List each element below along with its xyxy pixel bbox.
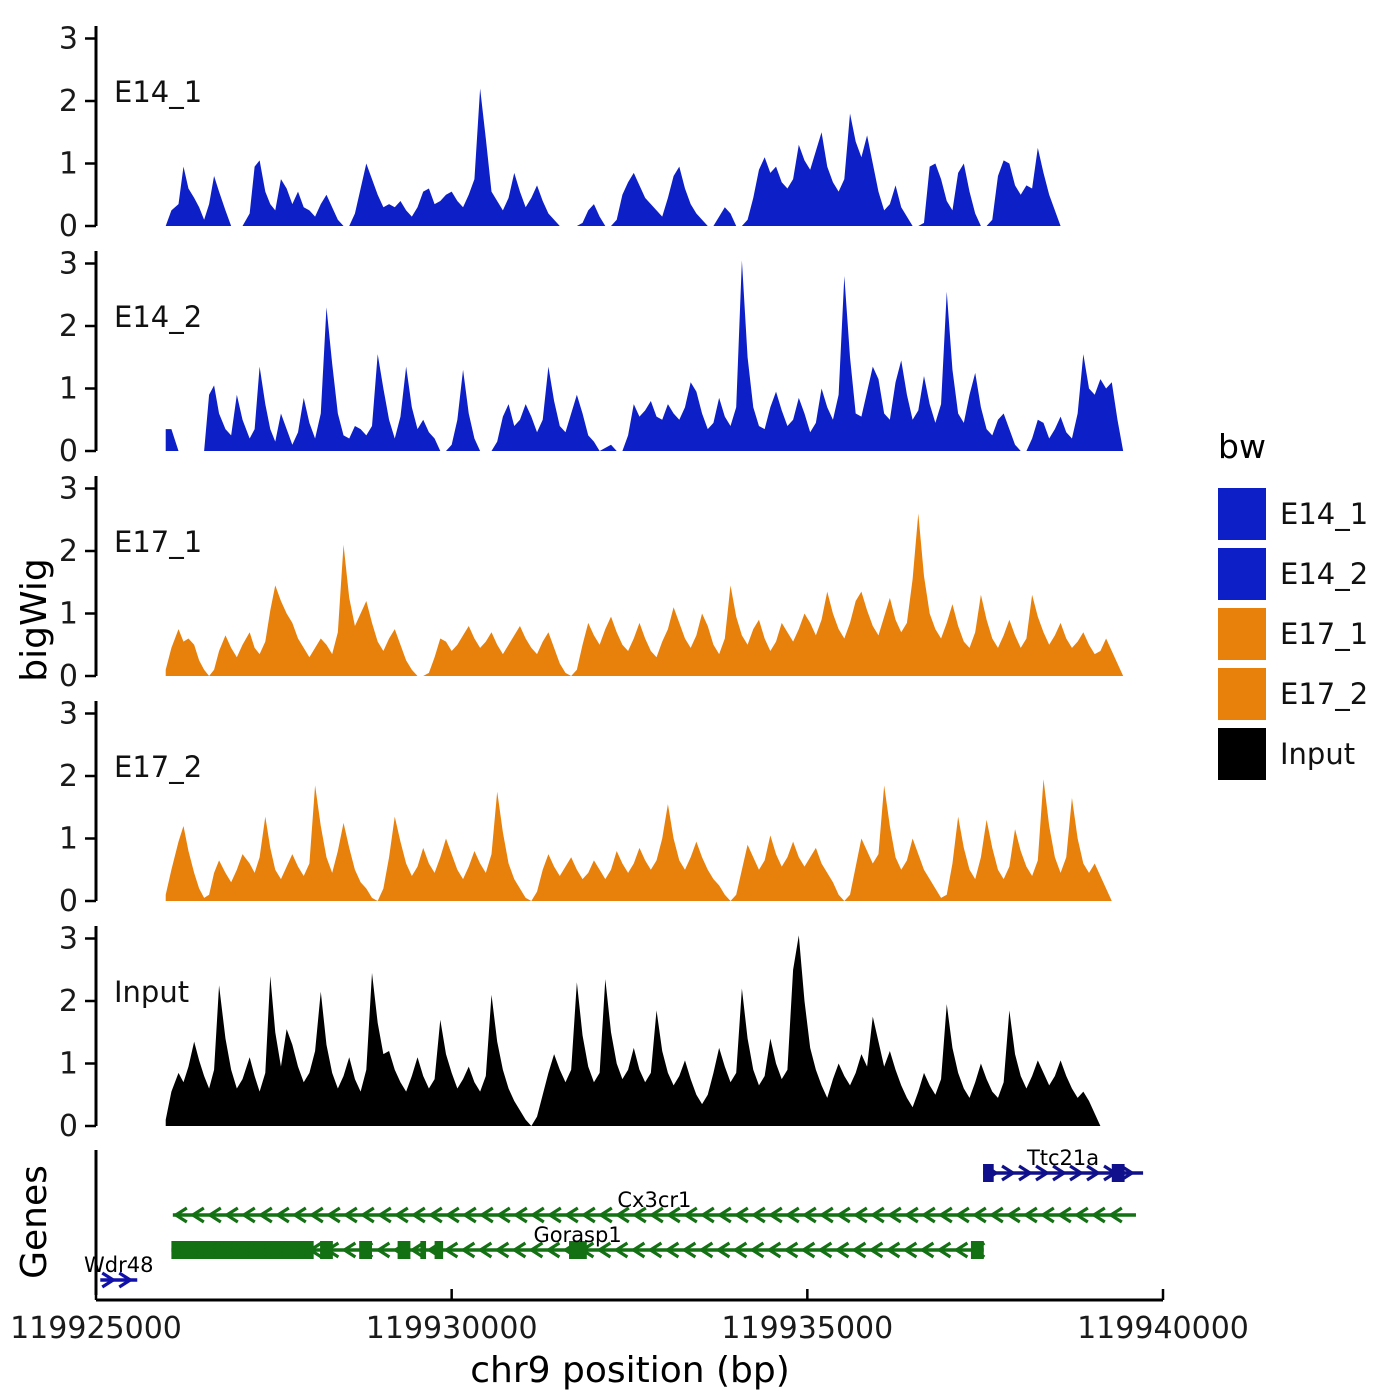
track-E17_1: 0123E17_1 <box>59 472 1123 695</box>
track-label-Input: Input <box>114 975 189 1009</box>
figure-root: 0123E14_10123E14_20123E17_10123E17_20123… <box>0 0 1400 1400</box>
legend-item-E14_1[interactable]: E14_1 <box>1218 488 1368 540</box>
track-E14_2: 0123E14_2 <box>59 247 1123 470</box>
y-tick-label: 3 <box>59 472 78 507</box>
genes-axis-title: Genes <box>14 1165 55 1279</box>
legend-label: E14_2 <box>1280 557 1368 591</box>
gene-Gorasp1[interactable]: Gorasp1 <box>171 1223 984 1259</box>
legend-swatch <box>1218 488 1266 540</box>
legend-item-E17_2[interactable]: E17_2 <box>1218 668 1368 720</box>
y-tick-label: 2 <box>59 534 78 569</box>
gene-label: Cx3cr1 <box>617 1188 691 1212</box>
y-tick-label: 0 <box>59 884 78 919</box>
legend-label: E17_2 <box>1280 677 1368 711</box>
track-label-E17_1: E17_1 <box>114 525 202 559</box>
legend-swatch <box>1218 548 1266 600</box>
y-tick-label: 0 <box>59 209 78 244</box>
gene-Ttc21a[interactable]: Ttc21a <box>983 1146 1143 1182</box>
gene-label: Gorasp1 <box>533 1223 621 1247</box>
y-tick-label: 2 <box>59 984 78 1019</box>
y-tick-label: 1 <box>59 822 78 857</box>
legend-item-E17_1[interactable]: E17_1 <box>1218 608 1368 660</box>
signal-area <box>166 260 1123 451</box>
y-tick-label: 3 <box>59 922 78 957</box>
y-tick-label: 3 <box>59 697 78 732</box>
gene-Wdr48[interactable]: Wdr48 <box>84 1253 153 1287</box>
track-label-E17_2: E17_2 <box>114 750 202 784</box>
x-axis-title: chr9 position (bp) <box>470 1350 790 1391</box>
gene-label: Wdr48 <box>84 1253 153 1277</box>
y-tick-label: 2 <box>59 309 78 344</box>
y-axis-title: bigWig <box>14 558 55 681</box>
legend-label: E17_1 <box>1280 617 1368 651</box>
track-label-E14_2: E14_2 <box>114 300 202 334</box>
x-tick-label: 119935000 <box>721 1311 893 1346</box>
y-tick-label: 3 <box>59 22 78 57</box>
y-tick-label: 2 <box>59 84 78 119</box>
signal-area <box>166 514 1123 677</box>
y-tick-label: 2 <box>59 759 78 794</box>
y-tick-label: 1 <box>59 372 78 407</box>
legend-swatch <box>1218 668 1266 720</box>
legend-item-E14_2[interactable]: E14_2 <box>1218 548 1368 600</box>
signal-area <box>166 935 1101 1126</box>
track-label-E14_1: E14_1 <box>114 75 202 109</box>
x-tick-label: 119925000 <box>10 1311 182 1346</box>
track-E17_2: 0123E17_2 <box>59 697 1112 920</box>
track-Input: 0123Input <box>59 922 1100 1145</box>
legend-label: Input <box>1280 737 1355 771</box>
y-tick-label: 1 <box>59 597 78 632</box>
legend-label: E14_1 <box>1280 497 1368 531</box>
legend-title: bw <box>1218 427 1266 466</box>
y-tick-label: 0 <box>59 1109 78 1144</box>
legend-item-Input[interactable]: Input <box>1218 728 1355 780</box>
y-tick-label: 3 <box>59 247 78 282</box>
y-tick-label: 0 <box>59 434 78 469</box>
y-tick-label: 0 <box>59 659 78 694</box>
legend-swatch <box>1218 608 1266 660</box>
signal-area <box>166 89 1129 227</box>
signal-area <box>166 779 1112 901</box>
y-tick-label: 1 <box>59 147 78 182</box>
gene-label: Ttc21a <box>1026 1146 1099 1170</box>
y-tick-label: 1 <box>59 1047 78 1082</box>
track-E14_1: 0123E14_1 <box>59 22 1129 245</box>
legend-swatch <box>1218 728 1266 780</box>
x-tick-label: 119930000 <box>366 1311 538 1346</box>
gene-Cx3cr1[interactable]: Cx3cr1 <box>173 1188 1136 1222</box>
genome-browser-figure: 0123E14_10123E14_20123E17_10123E17_20123… <box>0 0 1400 1400</box>
x-tick-label: 119940000 <box>1077 1311 1249 1346</box>
